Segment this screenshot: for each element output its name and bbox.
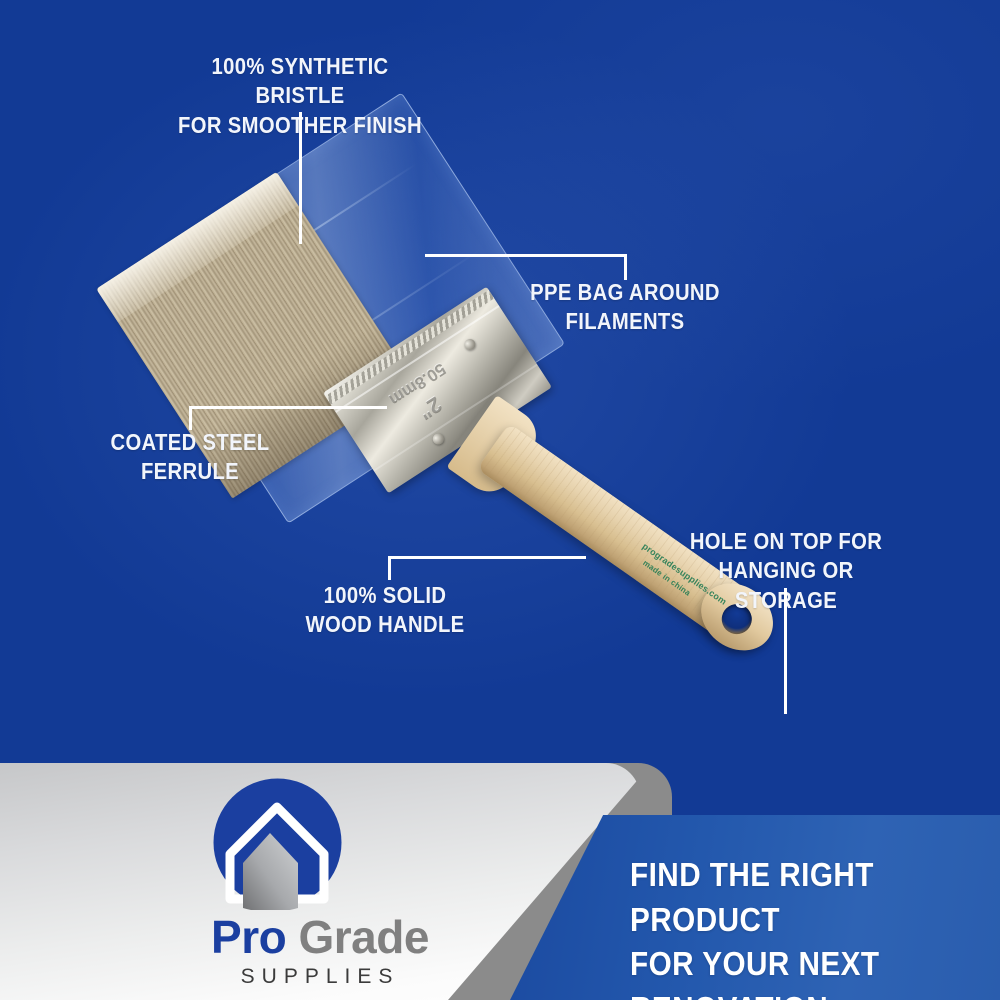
leader-line-ppe-vertical xyxy=(624,254,627,280)
ferrule-rivet xyxy=(462,337,477,352)
leader-line-handle-horizontal xyxy=(388,556,586,559)
leader-line-bristle xyxy=(299,112,302,244)
infographic-canvas: 50.8mm 2" progradesupplies.com made in c… xyxy=(0,0,1000,1000)
leader-line-ppe-horizontal xyxy=(425,254,627,257)
house-in-circle-icon xyxy=(210,775,345,910)
ferrule-rivet xyxy=(431,431,446,446)
branding-footer: FIND THE RIGHT PRODUCT FOR YOUR NEXT REN… xyxy=(0,755,1000,1000)
leader-line-hanging-hole xyxy=(784,588,787,714)
logo-word-grade: Grade xyxy=(299,911,429,963)
brand-logo: Pro Grade SUPPLIES xyxy=(155,775,485,990)
logo-wordmark: Pro Grade xyxy=(155,910,485,964)
tagline-text: FIND THE RIGHT PRODUCT FOR YOUR NEXT REN… xyxy=(630,853,963,1000)
ferrule-size-imperial: 2" xyxy=(413,391,446,425)
bristle-tip xyxy=(96,172,298,323)
callout-label-ferrule: COATED STEEL FERRULE xyxy=(80,428,300,487)
leader-line-ferrule-horizontal xyxy=(189,406,387,409)
callout-label-wood-handle: 100% SOLID WOOD HANDLE xyxy=(275,581,495,640)
callout-label-ppe-bag: PPE BAG AROUND FILAMENTS xyxy=(513,278,737,337)
leader-line-ferrule-vertical xyxy=(189,406,192,430)
leader-line-handle-vertical xyxy=(388,556,391,580)
logo-word-pro: Pro xyxy=(211,911,286,963)
logo-subtitle: SUPPLIES xyxy=(155,965,485,989)
